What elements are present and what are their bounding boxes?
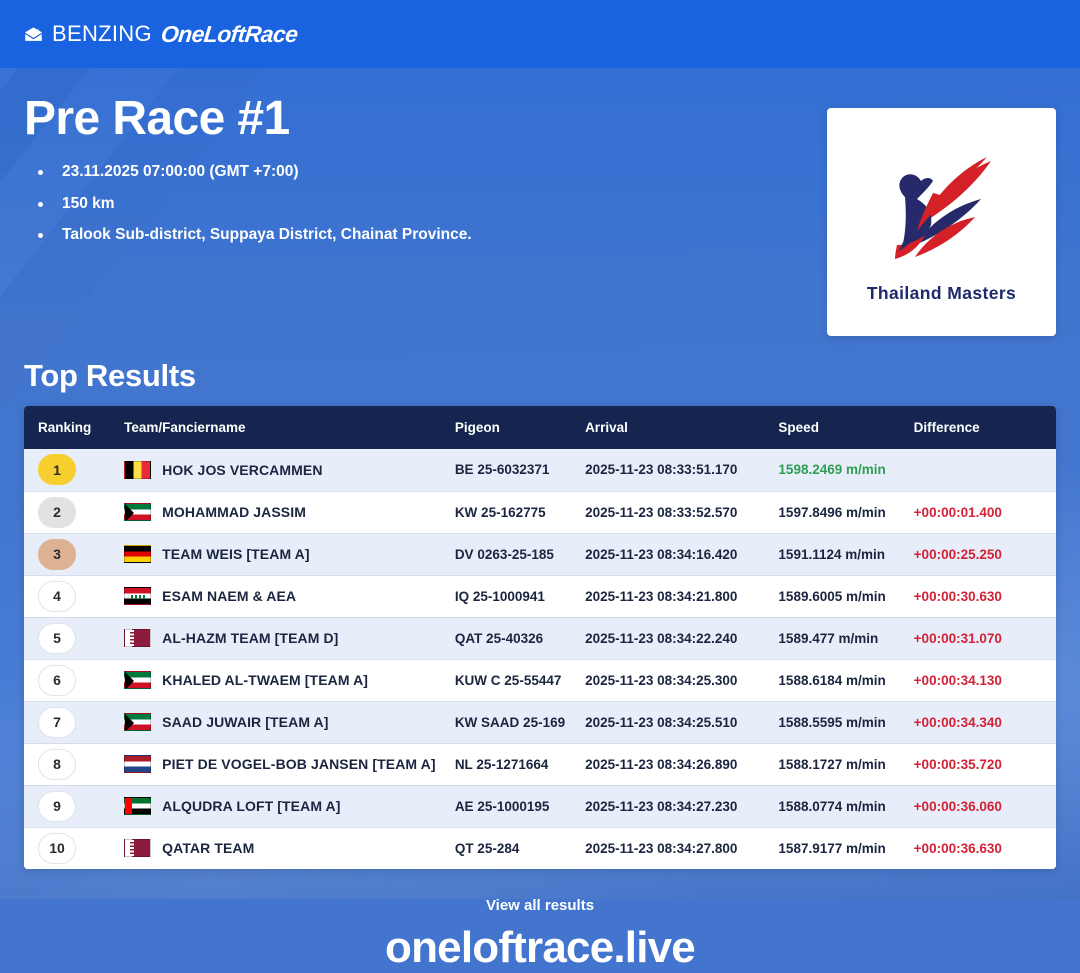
results-table-card: Ranking Team/Fanciername Pigeon Arrival … xyxy=(24,406,1056,869)
cell-difference: +00:00:25.250 xyxy=(914,533,1056,575)
cell-speed: 1587.9177 m/min xyxy=(778,827,913,869)
race-meta-list: 23.11.2025 07:00:00 (GMT +7:00) 150 km T… xyxy=(24,164,472,243)
cell-arrival: 2025-11-23 08:34:22.240 xyxy=(585,617,778,659)
section-title-top-results: Top Results xyxy=(24,358,1056,394)
team-wrapper: MOHAMMAD JASSIM xyxy=(124,503,455,521)
team-name: ALQUDRA LOFT [TEAM A] xyxy=(162,798,340,814)
team-wrapper: QATAR TEAM xyxy=(124,839,455,857)
cell-arrival: 2025-11-23 08:34:25.300 xyxy=(585,659,778,701)
table-row[interactable]: 2MOHAMMAD JASSIMKW 25-1627752025-11-23 0… xyxy=(24,491,1056,533)
cell-difference: +00:00:34.130 xyxy=(914,659,1056,701)
rank-badge: 8 xyxy=(38,749,76,780)
page-content: Pre Race #1 23.11.2025 07:00:00 (GMT +7:… xyxy=(0,68,1080,869)
cell-speed: 1588.0774 m/min xyxy=(778,785,913,827)
race-meta-distance: 150 km xyxy=(24,196,472,212)
cell-speed: 1598.2469 m/min xyxy=(778,449,913,491)
team-wrapper: AL-HAZM TEAM [TEAM D] xyxy=(124,629,455,647)
cell-ranking: 6 xyxy=(24,659,109,701)
column-header-difference[interactable]: Difference xyxy=(914,406,1056,449)
cell-ranking: 3 xyxy=(24,533,109,575)
cell-arrival: 2025-11-23 08:34:27.230 xyxy=(585,785,778,827)
organizer-logo-card: Thailand Masters xyxy=(827,108,1056,336)
cell-pigeon: BE 25-6032371 xyxy=(455,449,585,491)
race-meta-datetime: 23.11.2025 07:00:00 (GMT +7:00) xyxy=(24,164,472,180)
team-name: ESAM NAEM & AEA xyxy=(162,588,296,604)
team-name: PIET DE VOGEL-BOB JANSEN [TEAM A] xyxy=(162,756,435,772)
race-info: Pre Race #1 23.11.2025 07:00:00 (GMT +7:… xyxy=(24,68,472,259)
cell-team: KHALED AL-TWAEM [TEAM A] xyxy=(109,659,455,701)
table-row[interactable]: 10QATAR TEAMQT 25-2842025-11-23 08:34:27… xyxy=(24,827,1056,869)
cell-difference: +00:00:30.630 xyxy=(914,575,1056,617)
team-wrapper: PIET DE VOGEL-BOB JANSEN [TEAM A] xyxy=(124,755,455,773)
team-wrapper: ALQUDRA LOFT [TEAM A] xyxy=(124,797,455,815)
rank-badge: 1 xyxy=(38,454,76,485)
table-row[interactable]: 9ALQUDRA LOFT [TEAM A]AE 25-10001952025-… xyxy=(24,785,1056,827)
column-header-speed[interactable]: Speed xyxy=(778,406,913,449)
cell-speed: 1588.5595 m/min xyxy=(778,701,913,743)
cell-pigeon: KUW C 25-55447 xyxy=(455,659,585,701)
column-header-ranking[interactable]: Ranking xyxy=(24,406,109,449)
cell-ranking: 8 xyxy=(24,743,109,785)
cell-pigeon: QAT 25-40326 xyxy=(455,617,585,659)
team-name: SAAD JUWAIR [TEAM A] xyxy=(162,714,328,730)
team-wrapper: SAAD JUWAIR [TEAM A] xyxy=(124,713,455,731)
table-row[interactable]: 5AL-HAZM TEAM [TEAM D]QAT 25-403262025-1… xyxy=(24,617,1056,659)
cell-ranking: 1 xyxy=(24,449,109,491)
rank-badge: 5 xyxy=(38,623,76,654)
rank-badge: 7 xyxy=(38,707,76,738)
cell-difference: +00:00:31.070 xyxy=(914,617,1056,659)
cell-team: ALQUDRA LOFT [TEAM A] xyxy=(109,785,455,827)
cell-team: MOHAMMAD JASSIM xyxy=(109,491,455,533)
cell-difference: +00:00:35.720 xyxy=(914,743,1056,785)
cell-arrival: 2025-11-23 08:34:26.890 xyxy=(585,743,778,785)
column-header-arrival[interactable]: Arrival xyxy=(585,406,778,449)
team-wrapper: HOK JOS VERCAMMEN xyxy=(124,461,455,479)
table-row[interactable]: 7SAAD JUWAIR [TEAM A]KW SAAD 25-1692025-… xyxy=(24,701,1056,743)
flag-netherlands-icon xyxy=(124,755,151,773)
team-name: MOHAMMAD JASSIM xyxy=(162,504,306,520)
page-footer: View all results oneloftrace.live xyxy=(0,897,1080,973)
team-wrapper: TEAM WEIS [TEAM A] xyxy=(124,545,455,563)
table-row[interactable]: 8PIET DE VOGEL-BOB JANSEN [TEAM A]NL 25-… xyxy=(24,743,1056,785)
race-meta-location: Talook Sub-district, Suppaya District, C… xyxy=(24,227,472,243)
team-name: AL-HAZM TEAM [TEAM D] xyxy=(162,630,338,646)
cell-pigeon: DV 0263-25-185 xyxy=(455,533,585,575)
rank-badge: 9 xyxy=(38,791,76,822)
cell-arrival: 2025-11-23 08:34:27.800 xyxy=(585,827,778,869)
cell-ranking: 2 xyxy=(24,491,109,533)
column-header-team[interactable]: Team/Fanciername xyxy=(109,406,455,449)
flag-germany-icon xyxy=(124,545,151,563)
cell-difference xyxy=(914,449,1056,491)
team-wrapper: ESAM NAEM & AEA xyxy=(124,587,455,605)
cell-team: AL-HAZM TEAM [TEAM D] xyxy=(109,617,455,659)
thailand-masters-bird-logo xyxy=(867,141,1017,281)
top-app-bar: BENZING OneLoftRace xyxy=(0,0,1080,68)
cell-difference: +00:00:34.340 xyxy=(914,701,1056,743)
flag-iraq-icon xyxy=(124,587,151,605)
cell-arrival: 2025-11-23 08:34:16.420 xyxy=(585,533,778,575)
site-url-text: oneloftrace.live xyxy=(0,923,1080,973)
cell-speed: 1589.6005 m/min xyxy=(778,575,913,617)
page-title: Pre Race #1 xyxy=(24,94,472,144)
rank-badge: 3 xyxy=(38,539,76,570)
view-all-results-link[interactable]: View all results xyxy=(486,897,594,914)
brand-name-oneloftrace: OneLoftRace xyxy=(159,21,298,48)
team-name: TEAM WEIS [TEAM A] xyxy=(162,546,310,562)
cell-team: ESAM NAEM & AEA xyxy=(109,575,455,617)
table-row[interactable]: 1HOK JOS VERCAMMENBE 25-60323712025-11-2… xyxy=(24,449,1056,491)
cell-difference: +00:00:01.400 xyxy=(914,491,1056,533)
cell-arrival: 2025-11-23 08:33:51.170 xyxy=(585,449,778,491)
cell-ranking: 7 xyxy=(24,701,109,743)
flag-kuwait-icon xyxy=(124,671,151,689)
results-table: Ranking Team/Fanciername Pigeon Arrival … xyxy=(24,406,1056,869)
flag-kuwait-icon xyxy=(124,713,151,731)
cell-arrival: 2025-11-23 08:34:21.800 xyxy=(585,575,778,617)
cell-pigeon: NL 25-1271664 xyxy=(455,743,585,785)
cell-ranking: 10 xyxy=(24,827,109,869)
rank-badge: 10 xyxy=(38,833,76,864)
cell-arrival: 2025-11-23 08:33:52.570 xyxy=(585,491,778,533)
cell-arrival: 2025-11-23 08:34:25.510 xyxy=(585,701,778,743)
rank-badge: 2 xyxy=(38,497,76,528)
cell-team: PIET DE VOGEL-BOB JANSEN [TEAM A] xyxy=(109,743,455,785)
organizer-logo-caption: Thailand Masters xyxy=(867,283,1016,304)
cell-difference: +00:00:36.630 xyxy=(914,827,1056,869)
cell-speed: 1589.477 m/min xyxy=(778,617,913,659)
cell-pigeon: AE 25-1000195 xyxy=(455,785,585,827)
cell-pigeon: KW SAAD 25-169 xyxy=(455,701,585,743)
cell-speed: 1591.1124 m/min xyxy=(778,533,913,575)
flag-kuwait-icon xyxy=(124,503,151,521)
cell-speed: 1588.1727 m/min xyxy=(778,743,913,785)
flag-qatar-icon xyxy=(124,629,151,647)
cell-pigeon: KW 25-162775 xyxy=(455,491,585,533)
column-header-pigeon[interactable]: Pigeon xyxy=(455,406,585,449)
flag-uae-icon xyxy=(124,797,151,815)
brand-logo[interactable]: BENZING OneLoftRace xyxy=(24,21,297,48)
rank-badge: 4 xyxy=(38,581,76,612)
cell-team: HOK JOS VERCAMMEN xyxy=(109,449,455,491)
cell-speed: 1588.6184 m/min xyxy=(778,659,913,701)
flag-belgium-icon xyxy=(124,461,151,479)
brand-name-benzing: BENZING xyxy=(52,21,152,47)
cell-speed: 1597.8496 m/min xyxy=(778,491,913,533)
team-name: HOK JOS VERCAMMEN xyxy=(162,462,322,478)
rank-badge: 6 xyxy=(38,665,76,696)
cell-ranking: 5 xyxy=(24,617,109,659)
cell-team: TEAM WEIS [TEAM A] xyxy=(109,533,455,575)
table-row[interactable]: 6KHALED AL-TWAEM [TEAM A]KUW C 25-554472… xyxy=(24,659,1056,701)
cell-pigeon: IQ 25-1000941 xyxy=(455,575,585,617)
cell-team: QATAR TEAM xyxy=(109,827,455,869)
table-row[interactable]: 3TEAM WEIS [TEAM A]DV 0263-25-1852025-11… xyxy=(24,533,1056,575)
table-body: 1HOK JOS VERCAMMENBE 25-60323712025-11-2… xyxy=(24,449,1056,869)
cell-ranking: 4 xyxy=(24,575,109,617)
cell-pigeon: QT 25-284 xyxy=(455,827,585,869)
table-row[interactable]: 4ESAM NAEM & AEAIQ 25-10009412025-11-23 … xyxy=(24,575,1056,617)
dove-envelope-icon xyxy=(24,25,43,44)
table-head: Ranking Team/Fanciername Pigeon Arrival … xyxy=(24,406,1056,449)
cell-difference: +00:00:36.060 xyxy=(914,785,1056,827)
flag-qatar-icon xyxy=(124,839,151,857)
team-name: KHALED AL-TWAEM [TEAM A] xyxy=(162,672,368,688)
cell-team: SAAD JUWAIR [TEAM A] xyxy=(109,701,455,743)
team-wrapper: KHALED AL-TWAEM [TEAM A] xyxy=(124,671,455,689)
table-header-row: Ranking Team/Fanciername Pigeon Arrival … xyxy=(24,406,1056,449)
team-name: QATAR TEAM xyxy=(162,840,254,856)
race-hero: Pre Race #1 23.11.2025 07:00:00 (GMT +7:… xyxy=(24,68,1056,336)
cell-ranking: 9 xyxy=(24,785,109,827)
